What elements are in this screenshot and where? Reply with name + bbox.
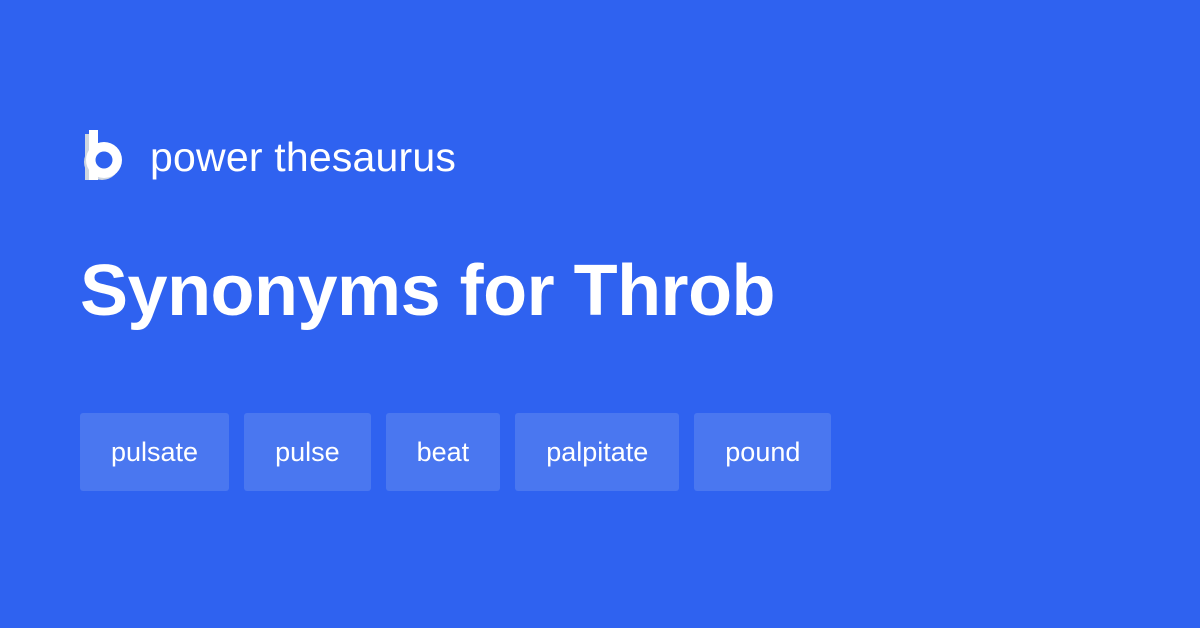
synonym-chip[interactable]: palpitate (515, 413, 679, 491)
brand-lockup[interactable]: power thesaurus (80, 128, 456, 186)
synonym-chip[interactable]: beat (386, 413, 501, 491)
synonym-chip[interactable]: pulse (244, 413, 371, 491)
brand-name: power thesaurus (150, 137, 456, 178)
synonym-chip-list: pulsate pulse beat palpitate pound (80, 413, 831, 491)
power-thesaurus-b-logo-icon (80, 130, 122, 184)
share-card: power thesaurus Synonyms for Throb pulsa… (0, 0, 1200, 628)
page-title: Synonyms for Throb (80, 248, 775, 334)
synonym-chip[interactable]: pound (694, 413, 831, 491)
synonym-chip[interactable]: pulsate (80, 413, 229, 491)
